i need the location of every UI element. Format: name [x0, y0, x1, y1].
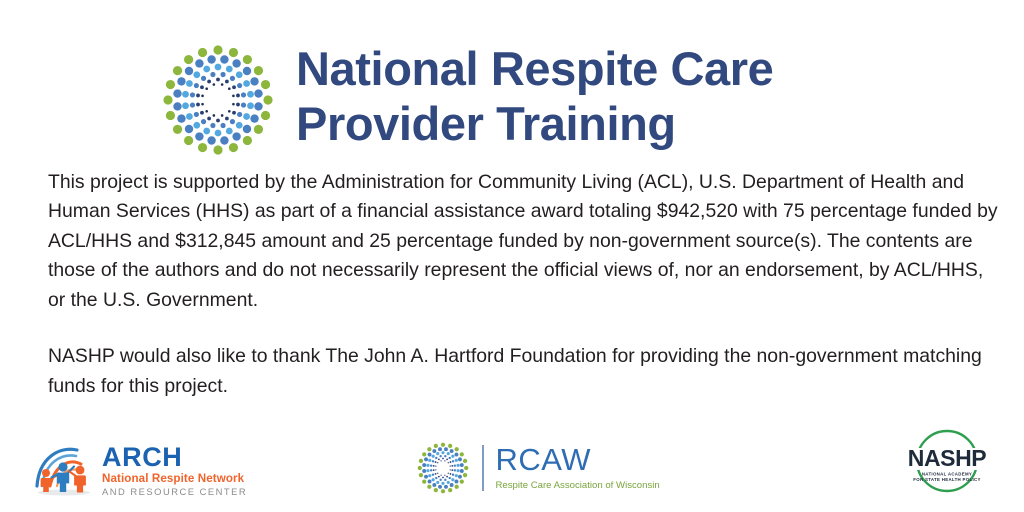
arch-logo-subtitle-2: AND RESOURCE CENTER [102, 487, 247, 496]
acknowledgement-paragraph: NASHP would also like to thank The John … [48, 342, 1000, 401]
body-copy: This project is supported by the Adminis… [0, 168, 1024, 401]
arch-logo-word: ARCH [102, 444, 247, 471]
arch-logo-subtitle-1: National Respite Network [102, 473, 247, 485]
nashp-logo-word: NASHP [908, 445, 987, 471]
nashp-logo-subtitle-1: NATIONAL ACADEMY [922, 472, 972, 477]
arch-family-figures-icon [33, 442, 95, 498]
radial-dot-burst-icon [162, 44, 274, 156]
nashp-logo: NASHP NATIONAL ACADEMY FOR STATE HEALTH … [895, 422, 999, 500]
radial-dot-burst-icon [417, 442, 469, 494]
rcaw-logo-word: RCAW [496, 444, 660, 475]
nashp-logo-subtitle-2: FOR STATE HEALTH POLICY [913, 477, 980, 482]
funding-statement-paragraph: This project is supported by the Adminis… [48, 168, 1000, 315]
footer-logo-bar: ARCH National Respite Network AND RESOUR… [0, 420, 1024, 506]
page-title-line-1: National Respite Care [296, 42, 773, 97]
rcaw-logo: RCAW Respite Care Association of Wiscons… [417, 442, 660, 494]
arch-logo: ARCH National Respite Network AND RESOUR… [33, 442, 247, 498]
rcaw-logo-subtitle: Respite Care Association of Wisconsin [496, 480, 660, 493]
header: National Respite Care Provider Training [0, 0, 1024, 168]
rcaw-logo-divider [482, 445, 484, 491]
page-title-line-2: Provider Training [296, 97, 773, 152]
page-title: National Respite Care Provider Training [296, 42, 773, 151]
